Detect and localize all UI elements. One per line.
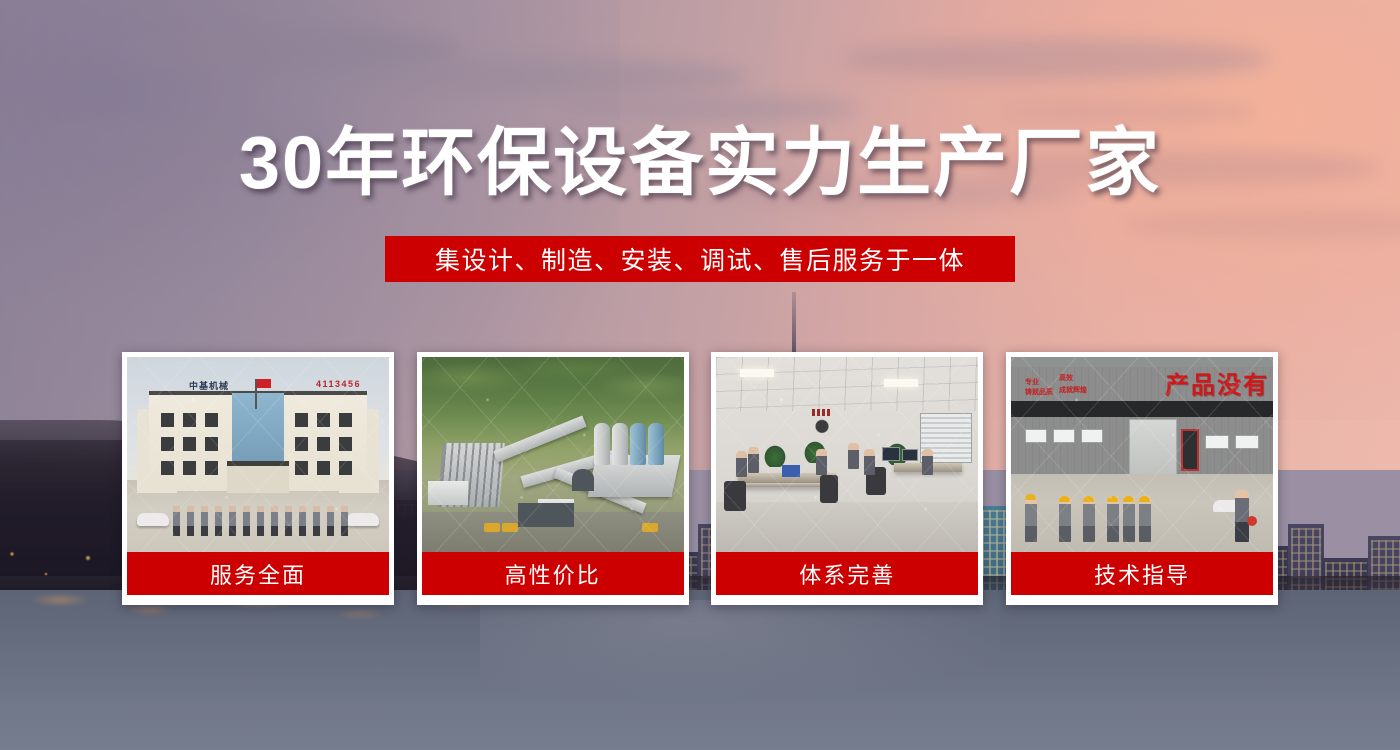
factory-wall-text-3: 铸就品质: [1025, 389, 1053, 398]
building-sign-text: 中基机械: [189, 379, 229, 392]
subtitle-text: 集设计、制造、安装、调试、售后服务于一体: [435, 241, 965, 277]
feature-card-guidance[interactable]: 产品没有 专业 铸就品质 高效 成就辉煌: [1006, 352, 1278, 605]
factory-wall-text-1: 专业: [1025, 379, 1039, 388]
factory-workers-training-photo: 产品没有 专业 铸就品质 高效 成就辉煌: [1011, 357, 1273, 552]
feature-card-value[interactable]: 高性价比: [417, 352, 689, 605]
feature-card-service[interactable]: 中基机械 4113456 服务全面: [122, 352, 394, 605]
headline-text: 30年环保设备实力生产厂家: [0, 126, 1400, 200]
building-phone-text: 4113456: [316, 379, 361, 389]
factory-wall-big-text: 产品没有: [1165, 365, 1269, 400]
office-interior-staff-photo: [716, 357, 978, 552]
feature-card-system[interactable]: 体系完善: [711, 352, 983, 605]
card-caption: 高性价比: [422, 552, 684, 595]
subtitle-banner: 集设计、制造、安装、调试、售后服务于一体: [385, 236, 1015, 282]
factory-wall-text-4: 成就辉煌: [1059, 387, 1087, 396]
factory-wall-text-2: 高效: [1059, 375, 1073, 384]
promo-banner: 30年环保设备实力生产厂家 集设计、制造、安装、调试、售后服务于一体: [0, 0, 1400, 750]
river-sheen: [480, 600, 1000, 710]
feature-card-list: 中基机械 4113456 服务全面: [122, 352, 1278, 605]
company-office-building-staff-photo: 中基机械 4113456: [127, 357, 389, 552]
card-caption: 服务全面: [127, 552, 389, 595]
aerial-production-plant-photo: [422, 357, 684, 552]
card-caption: 技术指导: [1011, 552, 1273, 595]
card-caption: 体系完善: [716, 552, 978, 595]
